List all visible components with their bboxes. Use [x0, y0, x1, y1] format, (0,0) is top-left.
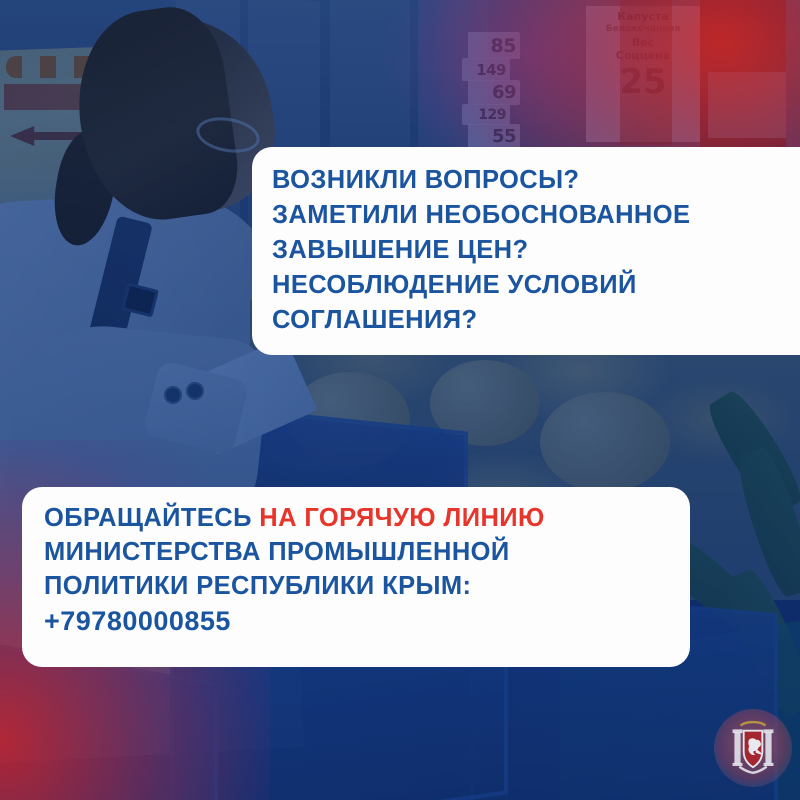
contact-panel: ОБРАЩАЙТЕСЬ НА ГОРЯЧУЮ ЛИНИЮ МИНИСТЕРСТВ…: [22, 487, 690, 667]
contact-line-2: МИНИСТЕРСТВА ПРОМЫШЛЕННОЙ: [44, 535, 690, 569]
hotline-accent-text: НА ГОРЯЧУЮ ЛИНИЮ: [259, 504, 544, 532]
headline-line-2: ЗАМЕТИЛИ НЕОБОСНОВАННОЕ: [272, 198, 800, 233]
poster-canvas: 85 149 69 129 55 Капуста Белокочанная Ве…: [0, 0, 800, 800]
headline-line-4: НЕСОБЛЮДЕНИЕ УСЛОВИЙ: [272, 268, 800, 303]
headline-line-5: СОГЛАШЕНИЯ?: [272, 303, 800, 338]
contact-line-1: ОБРАЩАЙТЕСЬ НА ГОРЯЧУЮ ЛИНИЮ: [44, 501, 690, 535]
contact-line-1-prefix: ОБРАЩАЙТЕСЬ: [44, 504, 259, 532]
contact-line-3: ПОЛИТИКИ РЕСПУБЛИКИ КРЫМ:: [44, 569, 690, 603]
coat-of-arms-icon: [714, 709, 792, 787]
headline-line-3: ЗАВЫШЕНИЕ ЦЕН?: [272, 233, 800, 268]
headline-panel: ВОЗНИКЛИ ВОПРОСЫ? ЗАМЕТИЛИ НЕОБОСНОВАННО…: [252, 147, 800, 355]
headline-line-1: ВОЗНИКЛИ ВОПРОСЫ?: [272, 163, 800, 198]
hotline-phone-number[interactable]: +79780000855: [44, 603, 690, 639]
